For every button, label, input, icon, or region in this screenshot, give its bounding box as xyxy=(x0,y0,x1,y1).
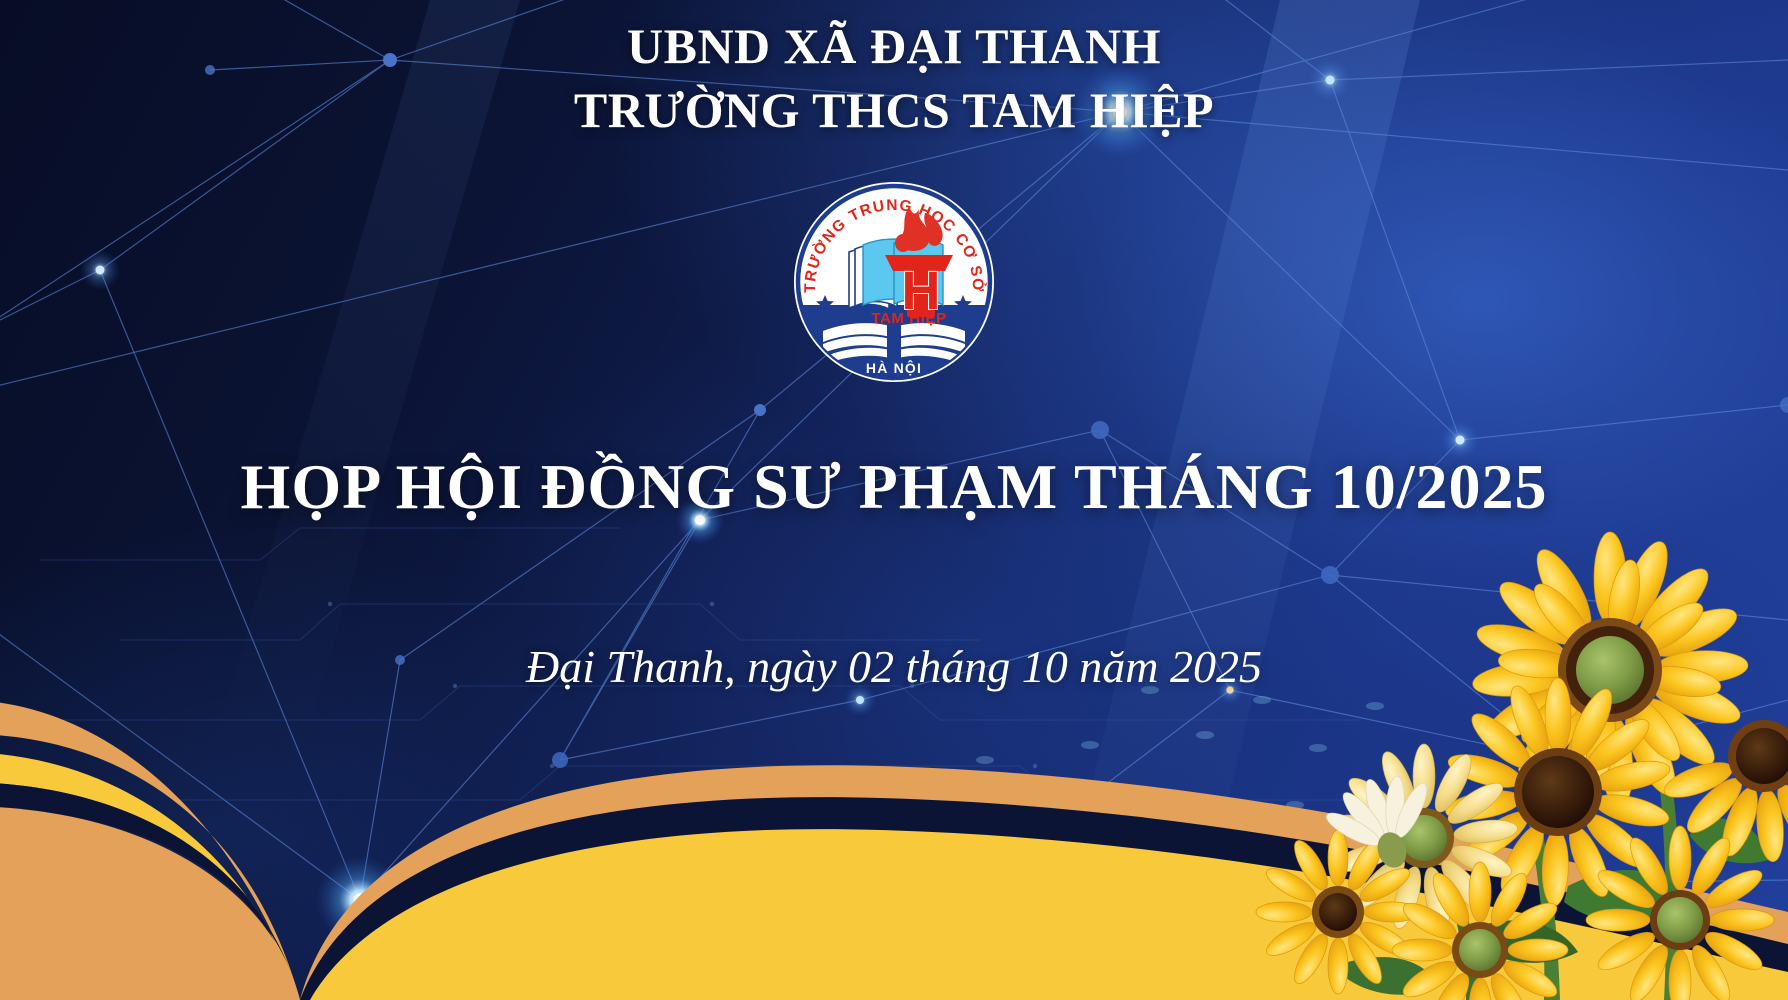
date-text: Đại Thanh, ngày 02 tháng 10 năm 2025 xyxy=(526,641,1262,692)
header-block: UBND XÃ ĐẠI THANH TRƯỜNG THCS TAM HIỆP xyxy=(0,14,1788,142)
main-title-block: HỌP HỘI ĐỒNG SƯ PHẠM THÁNG 10/2025 xyxy=(0,448,1788,526)
sunflower-right-edge xyxy=(1660,720,1788,863)
sunflower-left-pale xyxy=(1330,744,1519,932)
school-emblem-icon: TRƯỜNG TRUNG HỌC CƠ SỞ xyxy=(789,177,999,387)
date-block: Đại Thanh, ngày 02 tháng 10 năm 2025 xyxy=(0,638,1788,696)
sunflower-white-bud xyxy=(1314,762,1453,885)
sunflower-right-lower xyxy=(1586,826,1774,1000)
book-swoosh-decoration xyxy=(0,520,1788,1000)
logo-school-name: TAM HIỆP xyxy=(871,309,946,327)
sunflower-mid-dark xyxy=(1443,678,1672,906)
school-logo: TRƯỜNG TRUNG HỌC CƠ SỞ xyxy=(789,177,999,387)
sunflower-bottom-centre xyxy=(1392,862,1568,1000)
book-page-fan-right xyxy=(300,765,1788,1000)
presentation-slide: UBND XÃ ĐẠI THANH TRƯỜNG THCS TAM HIỆP xyxy=(0,0,1788,1000)
page-title: HỌP HỘI ĐỒNG SƯ PHẠM THÁNG 10/2025 xyxy=(241,451,1548,522)
sunflower-lower-left xyxy=(1256,830,1420,994)
sunflower-bouquet-decoration xyxy=(1228,520,1788,1000)
logo-location: HÀ NỘI xyxy=(866,359,922,376)
book-page-fan-left xyxy=(0,700,300,1000)
header-line-school: TRƯỜNG THCS TAM HIỆP xyxy=(0,78,1788,142)
header-line-authority: UBND XÃ ĐẠI THANH xyxy=(0,14,1788,78)
stems-and-leaves xyxy=(1346,768,1768,1000)
